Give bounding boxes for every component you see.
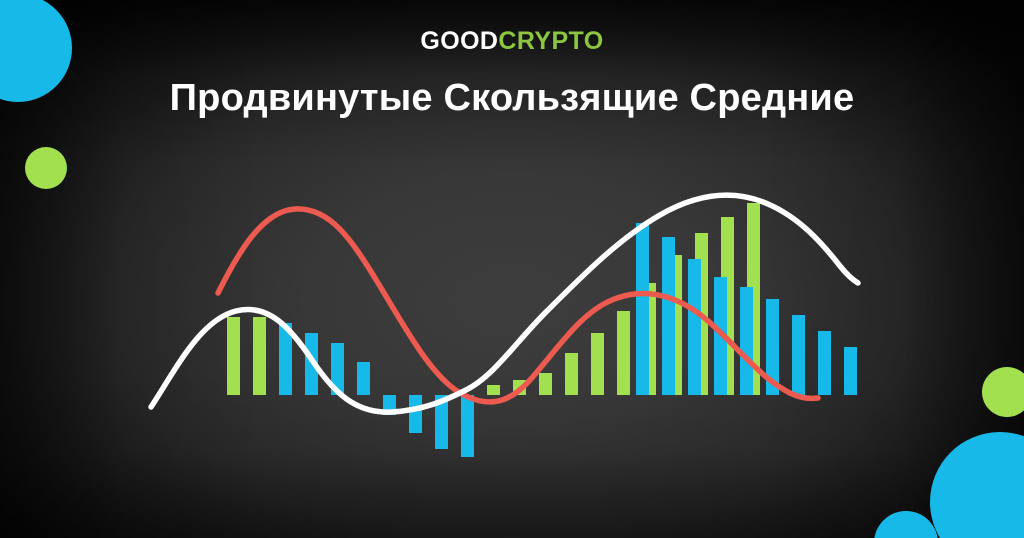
bar-1: [227, 317, 240, 395]
bar-11: [487, 385, 500, 395]
histogram-bars: [227, 203, 857, 457]
bar-16: [617, 311, 630, 395]
bar-15: [591, 333, 604, 395]
bar-6: [357, 362, 370, 395]
bar-10: [461, 395, 474, 457]
bar-28: [792, 315, 805, 395]
bar-22: [636, 223, 649, 395]
brand-logo-secondary: CRYPTO: [498, 27, 603, 55]
bar-8: [409, 395, 422, 433]
bar-30: [844, 347, 857, 395]
bar-24: [688, 259, 701, 395]
bar-2: [253, 317, 266, 395]
brand-logo-primary: GOOD: [420, 27, 498, 55]
bar-29: [818, 331, 831, 395]
bar-13: [539, 373, 552, 395]
bar-23: [662, 237, 675, 395]
banner-root: GOODCRYPTO Продвинутые Скользящие Средни…: [0, 0, 1024, 538]
page-title: Продвинутые Скользящие Средние: [0, 77, 1024, 121]
bar-26: [740, 287, 753, 395]
brand-logo: GOODCRYPTO: [0, 29, 1024, 54]
bar-14: [565, 353, 578, 395]
